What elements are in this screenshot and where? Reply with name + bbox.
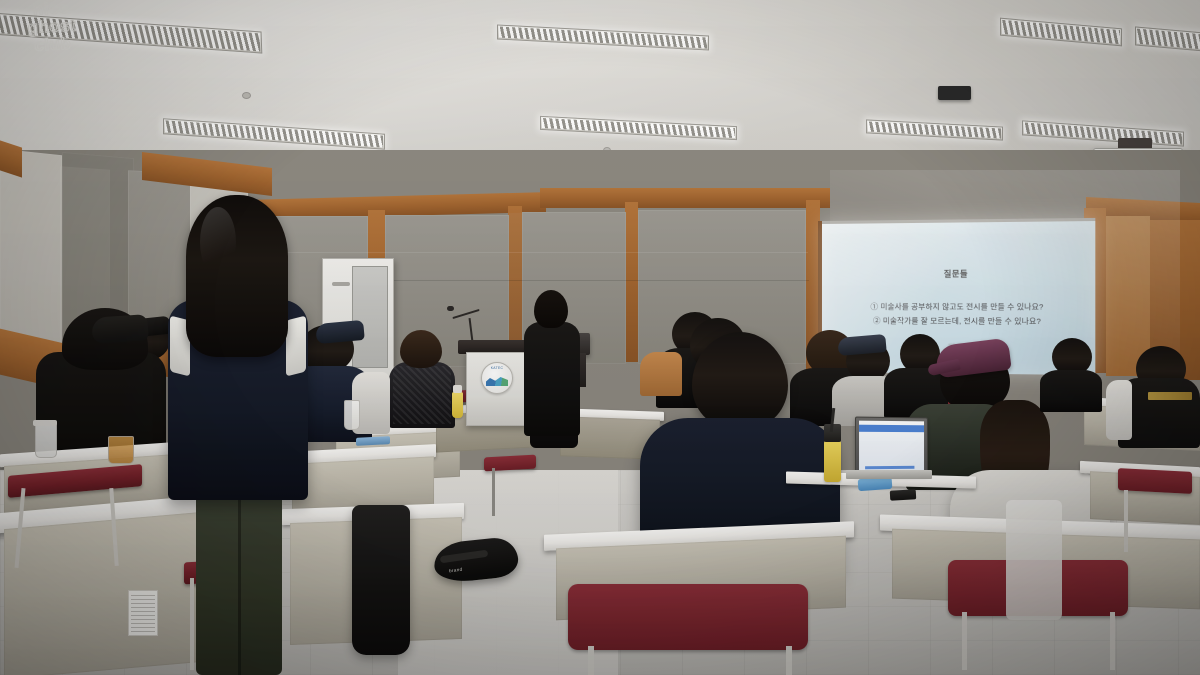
cup-lid	[33, 420, 57, 426]
standing-student-legs	[196, 480, 282, 675]
board-seam	[385, 280, 809, 281]
student-cap	[315, 320, 365, 344]
wall-panel	[0, 149, 62, 361]
university-logo-icon: KATEC	[481, 362, 513, 394]
foreground-student-head	[692, 332, 788, 428]
drink-cup[interactable]	[344, 400, 360, 430]
laptop-screen[interactable]	[859, 421, 924, 472]
chair-backrest[interactable]	[568, 584, 808, 650]
laptop-keyboard[interactable]	[846, 470, 932, 479]
laptop[interactable]	[855, 417, 928, 476]
drink-bottle[interactable]	[452, 392, 463, 418]
chair-leg	[492, 468, 495, 516]
drink-cup[interactable]	[108, 436, 134, 464]
cabinet-door[interactable]	[352, 266, 388, 368]
student-shoulder	[640, 352, 682, 396]
chair-leg	[588, 646, 594, 675]
hoodie-graphic-text: nice ghost club	[0, 0, 105, 61]
chair-leg	[1124, 490, 1128, 552]
desk-label	[128, 590, 158, 636]
slide-title: 질문들	[822, 268, 1095, 280]
chair-leg	[786, 646, 792, 675]
student-torso	[1040, 370, 1102, 412]
desk-item-phone[interactable]	[890, 489, 916, 500]
bag-on-chair[interactable]	[352, 505, 410, 655]
drink-bottle[interactable]	[824, 440, 841, 482]
hoodie-student: nice ghost club	[0, 0, 104, 58]
classroom-photo: 질문들 ① 미술사를 공부하지 않고도 전시를 만들 수 있나요? ② 미술작가…	[0, 0, 1200, 675]
hoodie-cap	[91, 314, 149, 344]
varsity-sleeve	[1106, 380, 1132, 440]
bag-on-chair[interactable]	[1006, 500, 1062, 620]
attendee-hair	[400, 330, 442, 368]
chair-leg	[190, 578, 194, 670]
microphone-icon	[447, 306, 454, 311]
jacket-stripe-right	[286, 316, 306, 377]
slide-question-2: ② 미술작가를 잘 모르는데, 전시를 만들 수 있나요?	[822, 315, 1095, 327]
presenter-torso	[524, 322, 580, 436]
wall-wood-band	[540, 188, 830, 208]
logo-wave-icon	[486, 376, 508, 386]
attendee-torso	[389, 362, 455, 428]
ceiling-vent	[242, 92, 251, 99]
varsity-lettering	[1148, 392, 1192, 400]
chair-leg	[1110, 612, 1115, 670]
board-seam	[268, 252, 808, 253]
chair-backrest[interactable]	[1118, 468, 1192, 494]
bottle-cap	[453, 385, 462, 393]
logo-text: KATEC	[482, 366, 512, 370]
drink-cup[interactable]	[35, 424, 57, 458]
slide-question-1: ① 미술사를 공부하지 않고도 전시를 만들 수 있나요?	[822, 301, 1095, 313]
cabinet-handle[interactable]	[332, 282, 350, 286]
ceiling-speaker-icon	[938, 86, 971, 100]
desk-modesty-panel	[4, 511, 214, 675]
presenter-hair	[534, 290, 568, 328]
chair-leg	[962, 612, 967, 670]
wall-column	[625, 202, 638, 362]
standing-student-hair	[186, 195, 288, 357]
